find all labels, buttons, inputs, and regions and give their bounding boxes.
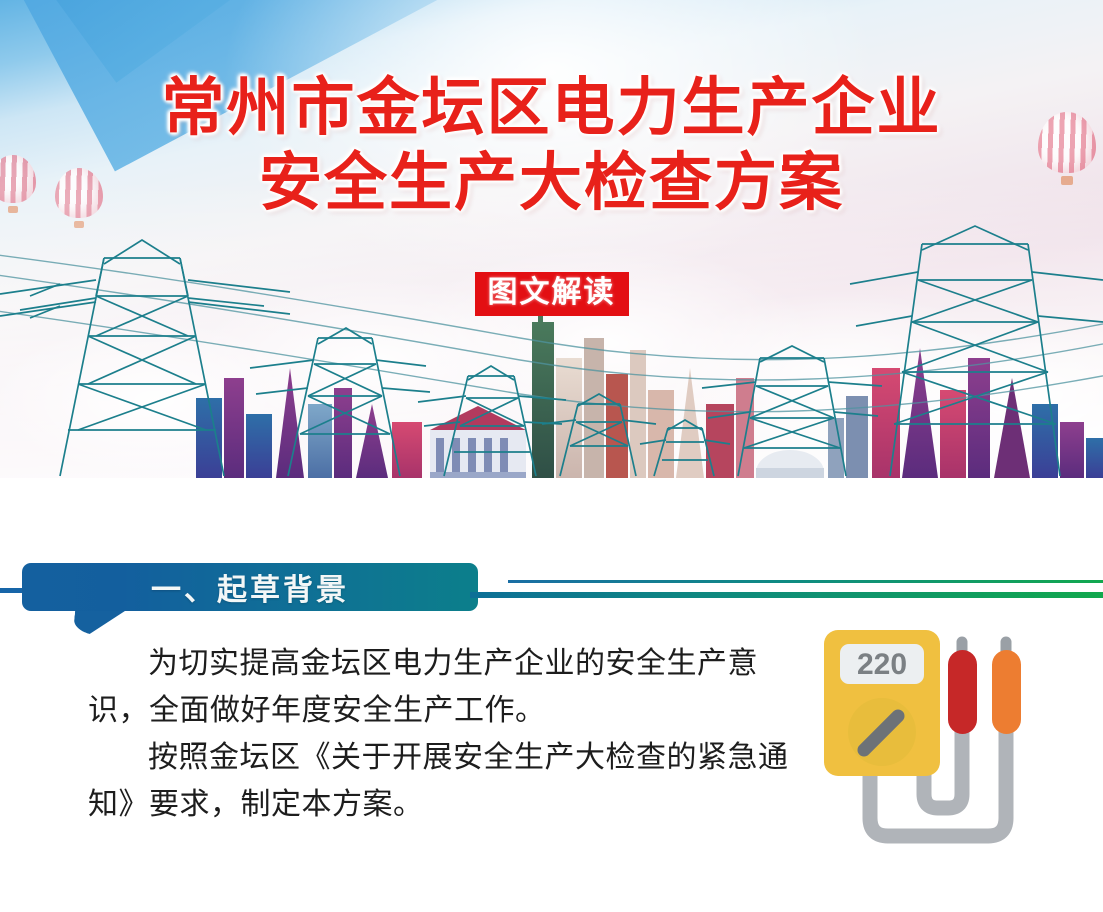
city-buildings-left [196,368,422,478]
city-buildings-right [872,348,1103,478]
hero-banner: 常州市金坛区电力生产企业 安全生产大检查方案 图文解读 [0,0,1103,478]
section-title-label: 一、起草背景 [151,565,349,609]
section-body-text: 为切实提高金坛区电力生产企业的安全生产意识，全面做好年度安全生产工作。 按照金坛… [88,640,802,828]
city-and-pylons-illustration [0,218,1103,478]
multimeter-display-value: 220 [857,648,907,681]
paragraph: 按照金坛区《关于开展安全生产大检查的紧急通知》要求，制定本方案。 [88,734,802,828]
section-header: 一、起草背景 [0,563,1103,619]
banner-badge: 图文解读 [0,272,1103,316]
probe-red [948,650,977,734]
banner-badge-label: 图文解读 [475,272,629,316]
header-rule-thin [508,580,1103,583]
section-title-bubble[interactable]: 一、起草背景 [22,563,478,611]
multimeter-illustration: 220 [812,622,1082,884]
banner-title: 常州市金坛区电力生产企业 安全生产大检查方案 [0,72,1103,222]
speech-bubble-tail [73,608,130,636]
banner-title-line2: 安全生产大检查方案 [0,144,1103,222]
banner-title-line1: 常州市金坛区电力生产企业 [0,72,1103,144]
paragraph: 为切实提高金坛区电力生产企业的安全生产意识，全面做好年度安全生产工作。 [88,640,802,734]
header-rule-thick [470,592,1103,598]
probe-orange [992,650,1021,734]
